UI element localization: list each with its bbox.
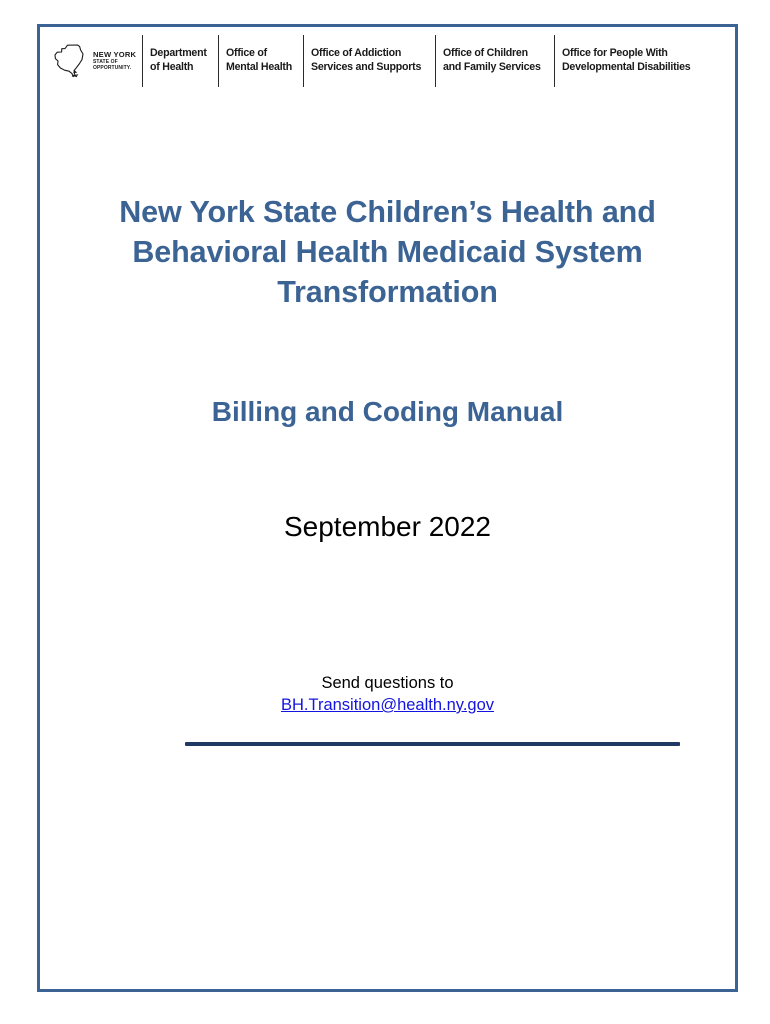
agency-name: Office of Children and Family Services xyxy=(443,47,541,75)
agency-office-of-addiction-services-and-supports: Office of Addiction Services and Support… xyxy=(303,35,435,87)
agency-office-of-mental-health: Office of Mental Health xyxy=(218,35,303,87)
document-title-line-1: New York State Children’s Health and xyxy=(80,192,695,232)
document-title-line-2: Behavioral Health Medicaid System xyxy=(80,232,695,272)
agency-name: Office of Addiction Services and Support… xyxy=(311,47,421,75)
document-date: September 2022 xyxy=(80,508,695,546)
contact-prompt: Send questions to xyxy=(80,672,695,694)
new-york-state-logo: NEW YORK STATE OF OPPORTUNITY. xyxy=(50,35,142,87)
logo-line-3: OPPORTUNITY. xyxy=(93,66,136,71)
document-title: New York State Children’s Health and Beh… xyxy=(80,192,695,312)
agency-header-banner: NEW YORK STATE OF OPPORTUNITY. Departmen… xyxy=(40,35,735,87)
contact-email-link[interactable]: BH.Transition@health.ny.gov xyxy=(281,696,494,714)
agency-name: Office for People With Developmental Dis… xyxy=(562,47,690,75)
divider-rule xyxy=(185,742,680,746)
logo-line-1: NEW YORK xyxy=(93,51,136,59)
agency-office-for-people-with-developmental-disabilities: Office for People With Developmental Dis… xyxy=(554,35,706,87)
document-title-line-3: Transformation xyxy=(80,272,695,312)
new-york-state-outline-icon xyxy=(52,42,92,80)
agency-department-of-health: Department of Health xyxy=(142,35,217,87)
document-subtitle: Billing and Coding Manual xyxy=(80,393,695,431)
agency-name: Department of Health xyxy=(150,47,207,75)
new-york-state-logo-text: NEW YORK STATE OF OPPORTUNITY. xyxy=(93,51,136,71)
contact-block: Send questions to BH.Transition@health.n… xyxy=(80,672,695,716)
page-border-frame: NEW YORK STATE OF OPPORTUNITY. Departmen… xyxy=(37,24,738,992)
agency-name: Office of Mental Health xyxy=(226,47,292,75)
agency-office-of-children-and-family-services: Office of Children and Family Services xyxy=(435,35,554,87)
